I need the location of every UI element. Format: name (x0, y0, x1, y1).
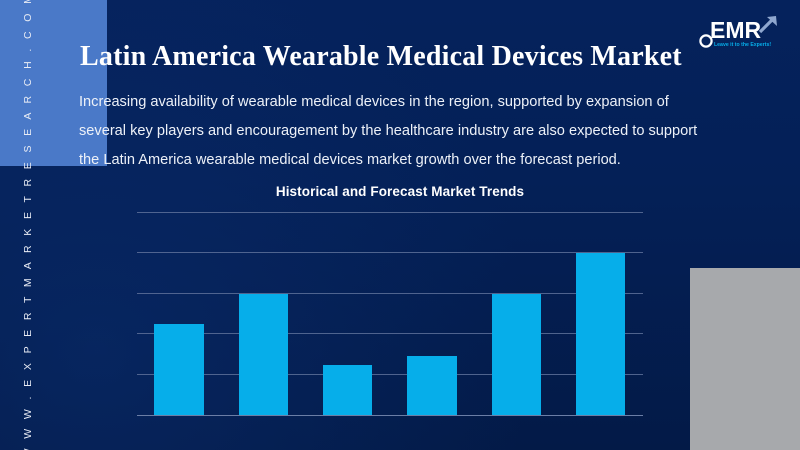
chart-bar (239, 294, 288, 415)
intro-line-3: the Latin America wearable medical devic… (79, 146, 751, 175)
chart-bar (407, 356, 456, 415)
intro-line-1: Increasing availability of wearable medi… (79, 88, 751, 117)
market-trends-bar-chart (137, 212, 643, 416)
website-url-vertical: W W W . E X P E R T M A R K E T R E S E … (22, 0, 34, 450)
chart-bar (492, 294, 541, 415)
intro-line-2: several key players and encouragement by… (79, 117, 751, 146)
intro-paragraph: Increasing availability of wearable medi… (79, 88, 751, 175)
chart-bars-group (137, 213, 643, 415)
logo-arrow-icon (760, 16, 777, 32)
chart-title: Historical and Forecast Market Trends (0, 184, 800, 199)
accent-block-right (690, 268, 800, 450)
chart-bar (576, 253, 625, 415)
svg-text:Leave it to the Experts!: Leave it to the Experts! (714, 42, 771, 48)
page-title: Latin America Wearable Medical Devices M… (80, 40, 720, 74)
slide-canvas: W W W . E X P E R T M A R K E T R E S E … (0, 0, 800, 450)
chart-bar (154, 324, 203, 415)
chart-bar (323, 365, 372, 416)
